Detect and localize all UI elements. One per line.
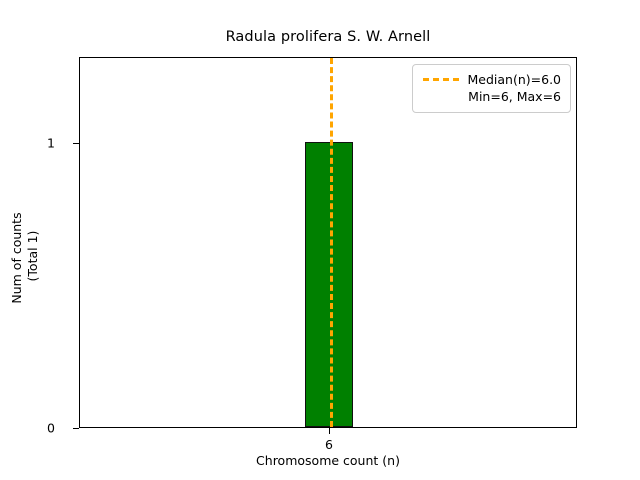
figure-canvas: Radula prolifera S. W. Arnell Num of cou… [0, 0, 640, 480]
y-axis-label: Num of counts (Total 1) [9, 93, 41, 423]
chart-title: Radula prolifera S. W. Arnell [79, 29, 577, 45]
x-tick-label-6: 6 [325, 437, 333, 452]
x-tick-mark-6 [329, 428, 330, 434]
legend-label-minmax: Min=6, Max=6 [468, 89, 561, 104]
bars-layer [80, 58, 576, 427]
legend-entry-median: Median(n)=6.0 [422, 71, 561, 88]
legend-entry-minmax: Min=6, Max=6 [422, 88, 561, 105]
x-axis-label: Chromosome count (n) [79, 453, 577, 468]
y-tick-mark-0 [73, 428, 79, 429]
legend-label-median: Median(n)=6.0 [468, 72, 562, 87]
legend-box[interactable]: Median(n)=6.0 Min=6, Max=6 [412, 64, 571, 113]
y-tick-label-0: 0 [47, 421, 55, 436]
y-tick-label-1: 1 [47, 136, 55, 151]
bar-6[interactable] [305, 142, 353, 427]
dashed-line-icon [423, 78, 459, 81]
median-vline [330, 58, 333, 427]
